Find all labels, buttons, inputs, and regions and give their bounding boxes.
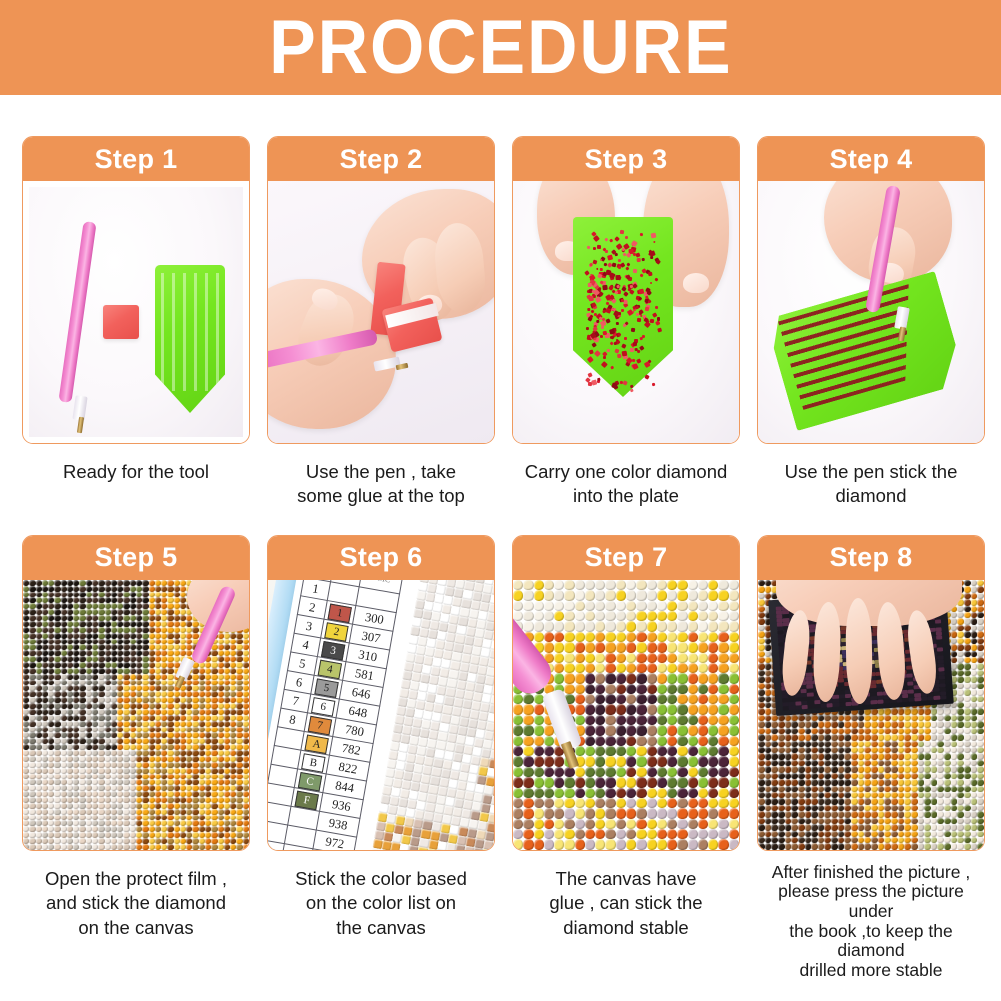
step-2-photo bbox=[268, 181, 494, 443]
step-6-photo: No.SymbolDMC1213003230743310545816564676… bbox=[268, 580, 494, 850]
step-7-image bbox=[513, 580, 739, 850]
step-5-image bbox=[23, 580, 249, 850]
step-4-caption: Use the pen stick the diamond bbox=[757, 460, 985, 509]
steps-row-1: Step 1 bbox=[0, 136, 1001, 509]
step-2-card: Step 2 bbox=[267, 136, 495, 444]
step-card-4: Step 4 bbox=[757, 136, 985, 509]
step-7-header: Step 7 bbox=[513, 536, 739, 580]
glue-square-icon bbox=[103, 305, 139, 339]
page-title: PROCEDURE bbox=[269, 10, 732, 86]
step-3-photo bbox=[513, 181, 739, 443]
step-5-card: Step 5 bbox=[22, 535, 250, 851]
step-6-card: Step 6 No.SymbolDMC121300323074331054581… bbox=[267, 535, 495, 851]
step-card-8: Step 8 bbox=[757, 535, 985, 981]
step-1-image bbox=[23, 181, 249, 443]
step-8-header: Step 8 bbox=[758, 536, 984, 580]
step-4-header: Step 4 bbox=[758, 137, 984, 181]
step-card-2: Step 2 bbox=[267, 136, 495, 509]
step-5-caption: Open the protect film , and stick the di… bbox=[22, 867, 250, 940]
step-3-caption: Carry one color diamond into the plate bbox=[512, 460, 740, 509]
step-7-card: Step 7 bbox=[512, 535, 740, 851]
step-7-photo bbox=[513, 580, 739, 850]
step-8-caption: After finished the picture , please pres… bbox=[757, 863, 985, 981]
step-4-photo bbox=[758, 181, 984, 443]
step-8-image bbox=[758, 580, 984, 850]
step-8-photo bbox=[758, 580, 984, 850]
step-6-image: No.SymbolDMC1213003230743310545816564676… bbox=[268, 580, 494, 850]
step-2-header: Step 2 bbox=[268, 137, 494, 181]
step-4-card: Step 4 bbox=[757, 136, 985, 444]
step-card-6: Step 6 No.SymbolDMC121300323074331054581… bbox=[267, 535, 495, 981]
step-1-photo bbox=[29, 187, 243, 437]
diamond-canvas-closeup-icon bbox=[513, 580, 739, 850]
step-2-image bbox=[268, 181, 494, 443]
step-4-image bbox=[758, 181, 984, 443]
step-card-7: Step 7 The canvas have glue , can stick … bbox=[512, 535, 740, 981]
page-banner: PROCEDURE bbox=[0, 0, 1001, 95]
step-8-card: Step 8 bbox=[757, 535, 985, 851]
step-7-caption: The canvas have glue , can stick the dia… bbox=[512, 867, 740, 940]
step-card-3: Step 3 Carry one bbox=[512, 136, 740, 509]
red-diamonds-icon bbox=[579, 225, 669, 385]
step-1-card: Step 1 bbox=[22, 136, 250, 444]
step-3-card: Step 3 bbox=[512, 136, 740, 444]
steps-grid: Step 1 bbox=[0, 136, 1001, 980]
step-5-photo bbox=[23, 580, 249, 850]
step-card-5: Step 5 Open the protect film , and stick… bbox=[22, 535, 250, 981]
step-3-header: Step 3 bbox=[513, 137, 739, 181]
steps-row-2: Step 5 Open the protect film , and stick… bbox=[0, 535, 1001, 981]
step-3-image bbox=[513, 181, 739, 443]
step-2-caption: Use the pen , take some glue at the top bbox=[267, 460, 495, 509]
step-card-1: Step 1 bbox=[22, 136, 250, 509]
step-6-header: Step 6 bbox=[268, 536, 494, 580]
step-1-caption: Ready for the tool bbox=[22, 460, 250, 484]
step-6-caption: Stick the color based on the color list … bbox=[267, 867, 495, 940]
step-5-header: Step 5 bbox=[23, 536, 249, 580]
step-1-header: Step 1 bbox=[23, 137, 249, 181]
